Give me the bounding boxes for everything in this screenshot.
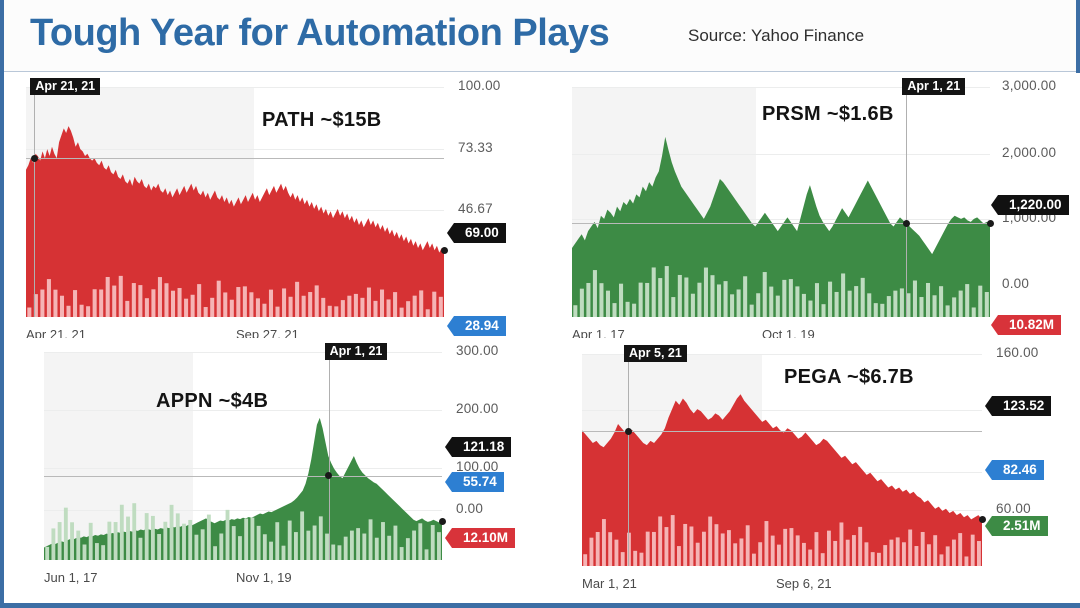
stock-chart-appn[interactable]: Apr 1, 21APPN ~$4B300.00200.00100.000.00…: [4, 338, 544, 603]
stock-chart-pega[interactable]: Apr 5, 21PEGA ~$6.7B160.00126.6793.3360.…: [544, 338, 1080, 603]
crosshair-date-pill: Apr 5, 21: [624, 345, 687, 362]
badge-label: 123.52: [1003, 398, 1044, 413]
badge-label: 55.74: [463, 474, 497, 489]
y-axis-tick-label: 0.00: [456, 501, 483, 516]
y-axis-tick-label: 100.00: [458, 78, 501, 93]
crosshair-vertical-line: [34, 87, 35, 317]
x-axis-tick-label: Nov 1, 19: [236, 570, 292, 585]
y-axis-tick-label: 60.00: [996, 501, 1031, 516]
plot-inner: [582, 354, 982, 566]
crosshair-horizontal-line: [44, 476, 442, 477]
chart-cell-appn: Apr 1, 21APPN ~$4B300.00200.00100.000.00…: [4, 338, 544, 603]
y-axis-tick-label: 73.33: [458, 140, 493, 155]
last-price-marker-dot: [987, 220, 994, 227]
crosshair-date-pill: Apr 1, 21: [902, 78, 965, 95]
price-area-series: [44, 352, 442, 560]
crosshair-date-pill: Apr 1, 21: [325, 343, 388, 360]
chart-title: PATH ~$15B: [262, 109, 382, 132]
y-axis-tick-label: 0.00: [1002, 276, 1029, 291]
crosshair-vertical-line: [329, 352, 330, 560]
last-price-badge: 55.74: [452, 472, 504, 492]
volume-badge: 10.82M: [998, 315, 1061, 335]
charts-grid: Apr 21, 21PATH ~$15B100.0073.3346.67Apr …: [4, 73, 1080, 603]
crosshair-price-badge: 123.52: [992, 396, 1051, 416]
x-axis-tick-label: Sep 6, 21: [776, 576, 832, 591]
badge-label: 28.94: [465, 318, 499, 333]
badge-label: 10.82M: [1009, 317, 1054, 332]
crosshair-price-badge: 69.00: [454, 223, 506, 243]
last-price-marker-dot: [441, 247, 448, 254]
badge-label: 121.18: [463, 439, 504, 454]
page-title: Tough Year for Automation Plays: [30, 12, 609, 55]
crosshair-horizontal-line: [572, 223, 990, 224]
crosshair-horizontal-line: [582, 431, 982, 432]
badge-label: 1,220.00: [1009, 197, 1062, 212]
last-price-badge: 82.46: [992, 460, 1044, 480]
crosshair-price-badge: 1,220.00: [998, 195, 1069, 215]
chart-title: APPN ~$4B: [156, 390, 268, 413]
crosshair-vertical-line: [906, 87, 907, 317]
chart-cell-path: Apr 21, 21PATH ~$15B100.0073.3346.67Apr …: [4, 73, 544, 338]
crosshair-marker-dot: [31, 155, 38, 162]
crosshair-vertical-line: [628, 354, 629, 566]
y-axis-tick-label: 200.00: [456, 401, 499, 416]
stock-chart-path[interactable]: Apr 21, 21PATH ~$15B100.0073.3346.67Apr …: [4, 73, 544, 338]
slide: Tough Year for Automation Plays Source: …: [0, 0, 1080, 608]
crosshair-price-badge: 121.18: [452, 437, 511, 457]
crosshair-date-pill: Apr 21, 21: [30, 78, 100, 95]
x-axis-tick-label: Mar 1, 21: [582, 576, 637, 591]
crosshair-marker-dot: [903, 220, 910, 227]
source-label: Source: Yahoo Finance: [688, 26, 864, 46]
x-axis-tick-label: Jun 1, 17: [44, 570, 98, 585]
badge-label: 12.10M: [463, 530, 508, 545]
y-axis-tick-label: 46.67: [458, 201, 493, 216]
crosshair-horizontal-line: [26, 158, 444, 159]
volume-badge: 2.51M: [992, 516, 1048, 536]
crosshair-marker-dot: [625, 428, 632, 435]
stock-chart-prsm[interactable]: Apr 1, 21PRSM ~$1.6B3,000.002,000.001,00…: [544, 73, 1080, 338]
slide-header: Tough Year for Automation Plays Source: …: [4, 0, 1076, 72]
badge-label: 69.00: [465, 225, 499, 240]
last-price-badge: 28.94: [454, 316, 506, 336]
chart-cell-pega: Apr 5, 21PEGA ~$6.7B160.00126.6793.3360.…: [544, 338, 1080, 603]
y-axis-tick-label: 3,000.00: [1002, 78, 1056, 93]
y-axis-tick-label: 300.00: [456, 343, 499, 358]
plot-inner: [44, 352, 442, 560]
chart-title: PEGA ~$6.7B: [784, 366, 914, 389]
volume-badge: 12.10M: [452, 528, 515, 548]
badge-label: 82.46: [1003, 462, 1037, 477]
y-axis-tick-label: 2,000.00: [1002, 145, 1056, 160]
plot-area[interactable]: [44, 352, 442, 560]
chart-title: PRSM ~$1.6B: [762, 103, 894, 126]
price-area-series: [582, 354, 982, 566]
y-axis-tick-label: 160.00: [996, 345, 1039, 360]
plot-area[interactable]: [582, 354, 982, 566]
badge-label: 2.51M: [1003, 518, 1041, 533]
last-price-marker-dot: [439, 518, 446, 525]
chart-cell-prsm: Apr 1, 21PRSM ~$1.6B3,000.002,000.001,00…: [544, 73, 1080, 338]
